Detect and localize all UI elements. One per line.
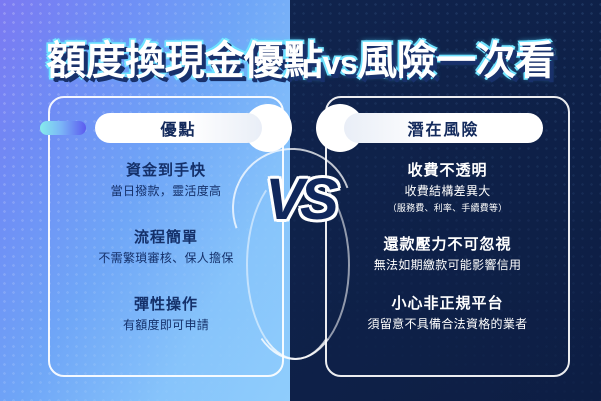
gradient-accent-dash <box>40 121 86 135</box>
item-heading: 收費不透明 <box>325 160 570 182</box>
item-subtext: 無法如期繳款可能影響信用 <box>325 256 570 275</box>
item-heading: 小心非正規平台 <box>325 293 570 315</box>
item-heading: 還款壓力不可忽視 <box>325 234 570 256</box>
advantages-header-group: 優點 <box>40 113 292 143</box>
advantages-header-label: 優點 <box>160 116 196 140</box>
risks-header-label: 潛在風險 <box>407 116 479 140</box>
page-title: 額度換現金優點vs風險一次看 <box>0 30 601 92</box>
list-item: 還款壓力不可忽視 無法如期繳款可能影響信用 <box>325 234 570 275</box>
item-heading: 流程簡單 <box>48 227 284 249</box>
list-item: 小心非正規平台 須留意不具備合法資格的業者 <box>325 293 570 334</box>
item-note: （服務費、利率、手續費等） <box>325 201 570 216</box>
item-subtext: 須留意不具備合法資格的業者 <box>325 315 570 334</box>
list-item: 資金到手快 當日撥款，靈活度高 <box>48 160 284 201</box>
item-subtext: 收費結構差異大 <box>325 182 570 201</box>
page-title-part-b: 風險一次看 <box>357 39 555 83</box>
page-title-vs: vs <box>323 45 358 81</box>
item-subtext: 有額度即可申請 <box>48 316 284 335</box>
infographic-poster: 額度換現金優點vs風險一次看 優點 潛在風險 資金到手快 當日撥款，靈活度高 流… <box>0 0 601 401</box>
advantages-list: 資金到手快 當日撥款，靈活度高 流程簡單 不需繁瑣審核、保人擔保 彈性操作 有額… <box>48 160 284 361</box>
page-title-part-a: 額度換現金優點 <box>46 39 323 83</box>
item-heading: 彈性操作 <box>48 294 284 316</box>
item-subtext: 不需繁瑣審核、保人擔保 <box>48 249 284 268</box>
list-item: 收費不透明 收費結構差異大 （服務費、利率、手續費等） <box>325 160 570 216</box>
risks-header-pill: 潛在風險 <box>344 113 543 143</box>
advantages-header-pill: 優點 <box>95 113 262 143</box>
list-item: 彈性操作 有額度即可申請 <box>48 294 284 335</box>
item-heading: 資金到手快 <box>48 160 284 182</box>
risks-header-group: 潛在風險 <box>316 113 571 143</box>
risks-list: 收費不透明 收費結構差異大 （服務費、利率、手續費等） 還款壓力不可忽視 無法如… <box>325 160 570 352</box>
list-item: 流程簡單 不需繁瑣審核、保人擔保 <box>48 227 284 268</box>
item-subtext: 當日撥款，靈活度高 <box>48 182 284 201</box>
